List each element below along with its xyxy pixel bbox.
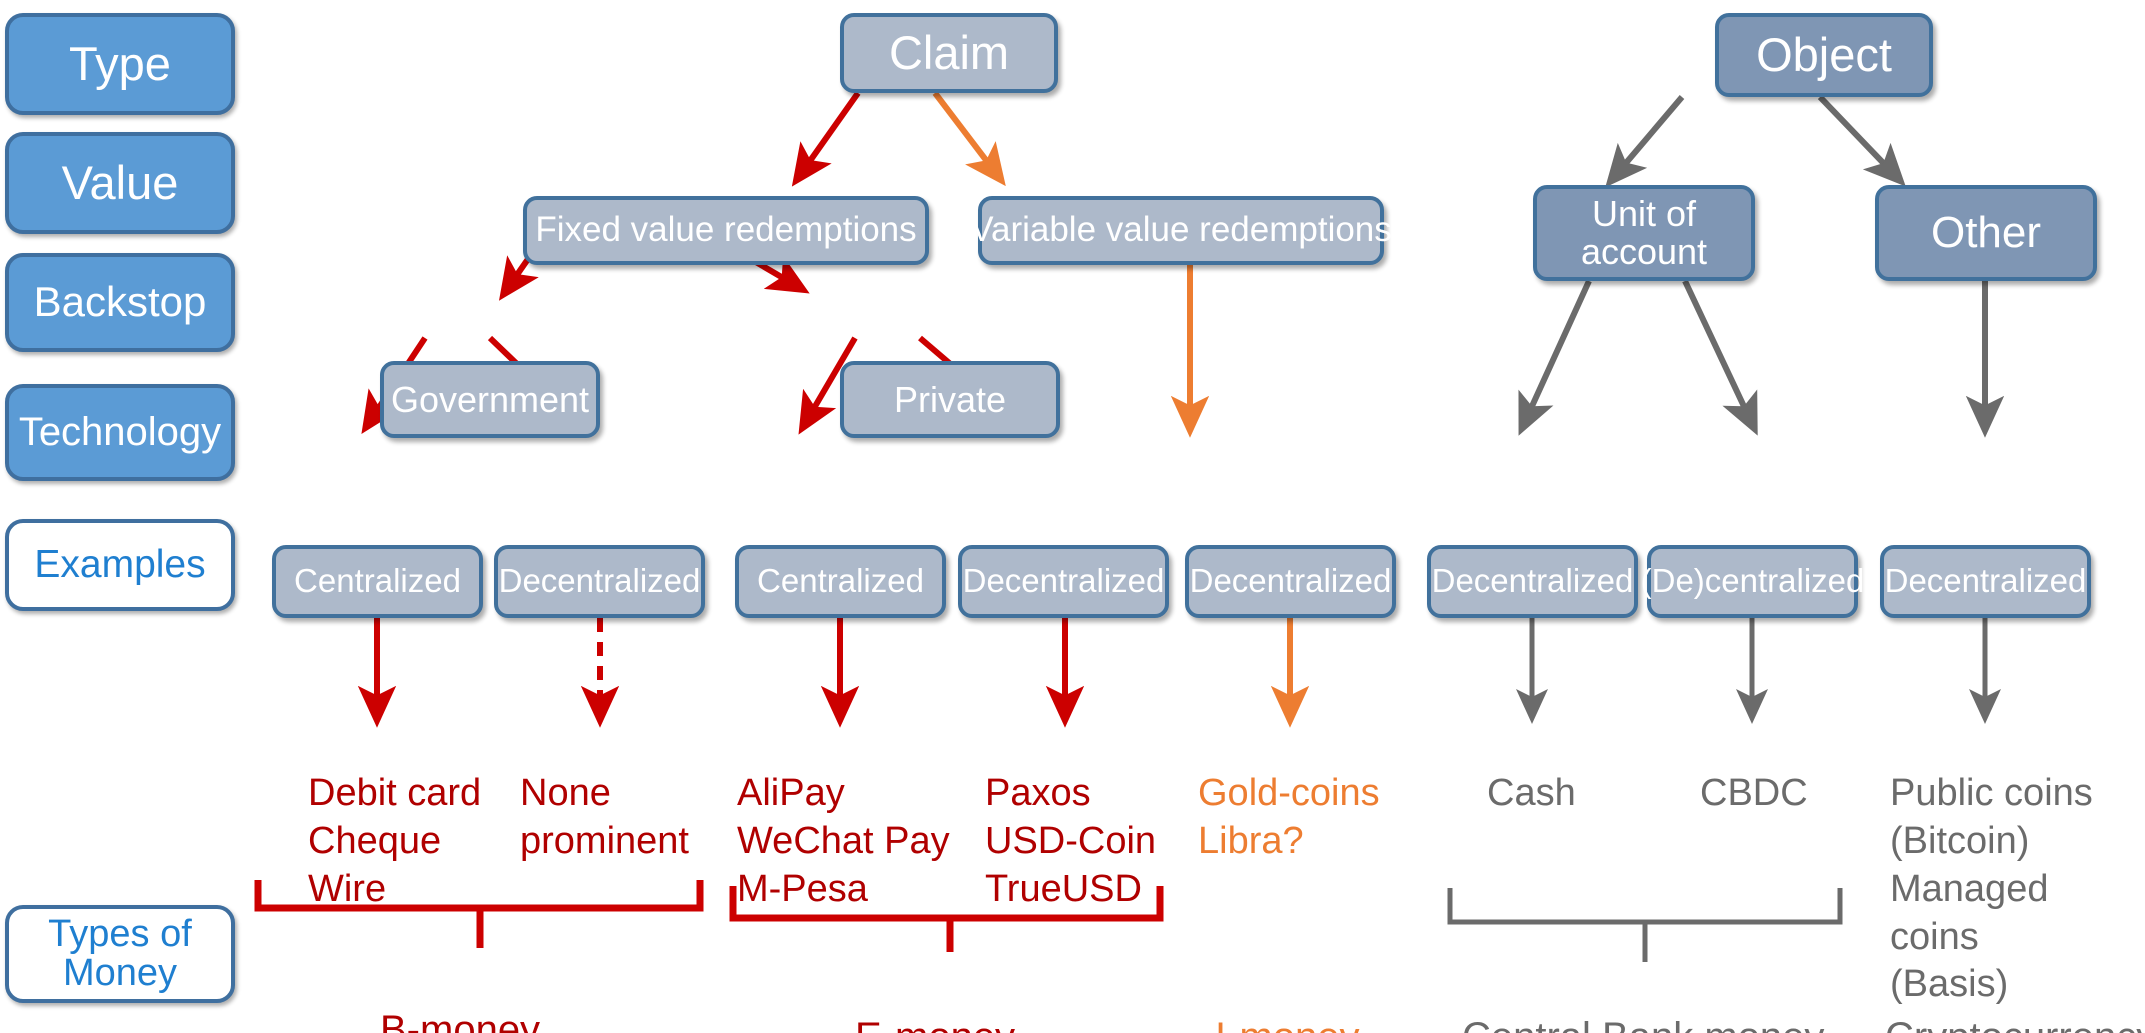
row-label-text: Technology xyxy=(19,412,221,453)
node-claim[interactable]: Claim xyxy=(840,13,1058,93)
node-label: Centralized xyxy=(294,564,461,599)
bracket-central-bank-money xyxy=(1450,888,1840,962)
node-technology-decentralized-variable[interactable]: Decentralized xyxy=(1185,545,1396,618)
example-text: Gold-coins Libra? xyxy=(1198,772,1380,862)
example-text: Cash xyxy=(1487,772,1576,814)
node-label: Unit of account xyxy=(1581,195,1707,271)
node-label: Decentralized xyxy=(963,564,1165,599)
example-text: Paxos USD-Coin TrueUSD xyxy=(985,772,1156,910)
money-type-i-money: I-money xyxy=(1215,962,1360,1033)
row-label-type[interactable]: Type xyxy=(5,13,235,115)
node-label: Variable value redemptions xyxy=(970,212,1392,249)
node-label: Claim xyxy=(889,28,1009,77)
money-type-label: I-money xyxy=(1215,1015,1360,1033)
node-label: Decentralized xyxy=(1885,564,2087,599)
row-label-value[interactable]: Value xyxy=(5,132,235,234)
node-technology-centralized-private[interactable]: Centralized xyxy=(735,545,946,618)
example-i-money: Gold-coins Libra? xyxy=(1198,722,1380,866)
example-b-money-centralized: Debit card Cheque Wire xyxy=(308,722,481,914)
node-private[interactable]: Private xyxy=(840,361,1060,438)
example-text: CBDC xyxy=(1700,772,1808,814)
money-type-label: E-money xyxy=(855,1015,1015,1033)
example-text: None prominent xyxy=(520,772,689,862)
node-government[interactable]: Government xyxy=(380,361,600,438)
money-type-central-bank-money: Central Bank money xyxy=(1462,962,1824,1033)
node-technology-decentralized-private[interactable]: Decentralized xyxy=(958,545,1169,618)
arrow-unit-to-decentralized xyxy=(1528,281,1589,415)
node-label: Decentralized xyxy=(1432,564,1634,599)
example-cbdc: CBDC xyxy=(1700,722,1808,818)
arrow-unit-to-decentralized-2 xyxy=(1685,281,1748,415)
money-type-label: Cryptocurrency xyxy=(1885,1015,2145,1033)
row-label-text: Value xyxy=(62,159,179,207)
node-label: Fixed value redemptions xyxy=(535,212,916,249)
arrow-object-to-unit-of-account xyxy=(1620,97,1682,170)
row-label-technology[interactable]: Technology xyxy=(5,384,235,481)
money-type-label: Central Bank money xyxy=(1462,1015,1824,1033)
money-type-label: B-money xyxy=(380,1008,540,1033)
node-technology-centralized-government[interactable]: Centralized xyxy=(272,545,483,618)
node-object[interactable]: Object xyxy=(1715,13,1933,97)
node-technology-decentralized-government[interactable]: Decentralized xyxy=(494,545,705,618)
node-fixed-value-redemptions[interactable]: Fixed value redemptions xyxy=(523,196,929,265)
money-type-e-money: E-money xyxy=(855,962,1015,1033)
node-label: Decentralized xyxy=(499,564,701,599)
example-e-money-decentralized: Paxos USD-Coin TrueUSD xyxy=(985,722,1156,914)
node-label: Private xyxy=(894,381,1006,419)
example-text: Debit card Cheque Wire xyxy=(308,772,481,910)
row-label-examples[interactable]: Examples xyxy=(5,519,235,611)
example-b-money-decentralized: None prominent xyxy=(520,722,689,866)
row-label-backstop[interactable]: Backstop xyxy=(5,253,235,352)
node-technology-decentralized-unit[interactable]: Decentralized xyxy=(1427,545,1638,618)
node-technology-de-centralized-unit[interactable]: (De)centralized xyxy=(1647,545,1858,618)
money-type-cryptocurrency: Cryptocurrency xyxy=(1885,962,2145,1033)
node-label: Object xyxy=(1756,30,1892,79)
example-text: AliPay WeChat Pay M-Pesa xyxy=(737,772,950,910)
example-e-money-centralized: AliPay WeChat Pay M-Pesa xyxy=(737,722,950,914)
node-variable-value-redemptions[interactable]: Variable value redemptions xyxy=(978,196,1384,265)
arrow-object-to-other xyxy=(1820,97,1890,170)
node-label: Decentralized xyxy=(1190,564,1392,599)
arrow-claim-to-variable xyxy=(935,93,992,168)
node-label: Other xyxy=(1931,210,2041,256)
diagram-canvas: Type Value Backstop Technology Examples … xyxy=(0,0,2145,1033)
row-label-types-of-money[interactable]: Types of Money xyxy=(5,905,235,1003)
node-label: (De)centralized xyxy=(1641,564,1865,599)
row-label-text: Types of Money xyxy=(48,915,192,993)
node-technology-decentralized-other[interactable]: Decentralized xyxy=(1880,545,2091,618)
arrow-claim-to-fixed xyxy=(805,93,858,168)
row-label-text: Examples xyxy=(34,545,205,585)
node-label: Centralized xyxy=(757,564,924,599)
node-label: Government xyxy=(391,381,589,419)
row-label-text: Type xyxy=(69,40,171,88)
node-unit-of-account[interactable]: Unit of account xyxy=(1533,185,1755,281)
node-other[interactable]: Other xyxy=(1875,185,2097,281)
row-label-text: Backstop xyxy=(34,281,207,324)
money-type-b-money: B-money xyxy=(380,955,540,1033)
example-cash: Cash xyxy=(1487,722,1576,818)
